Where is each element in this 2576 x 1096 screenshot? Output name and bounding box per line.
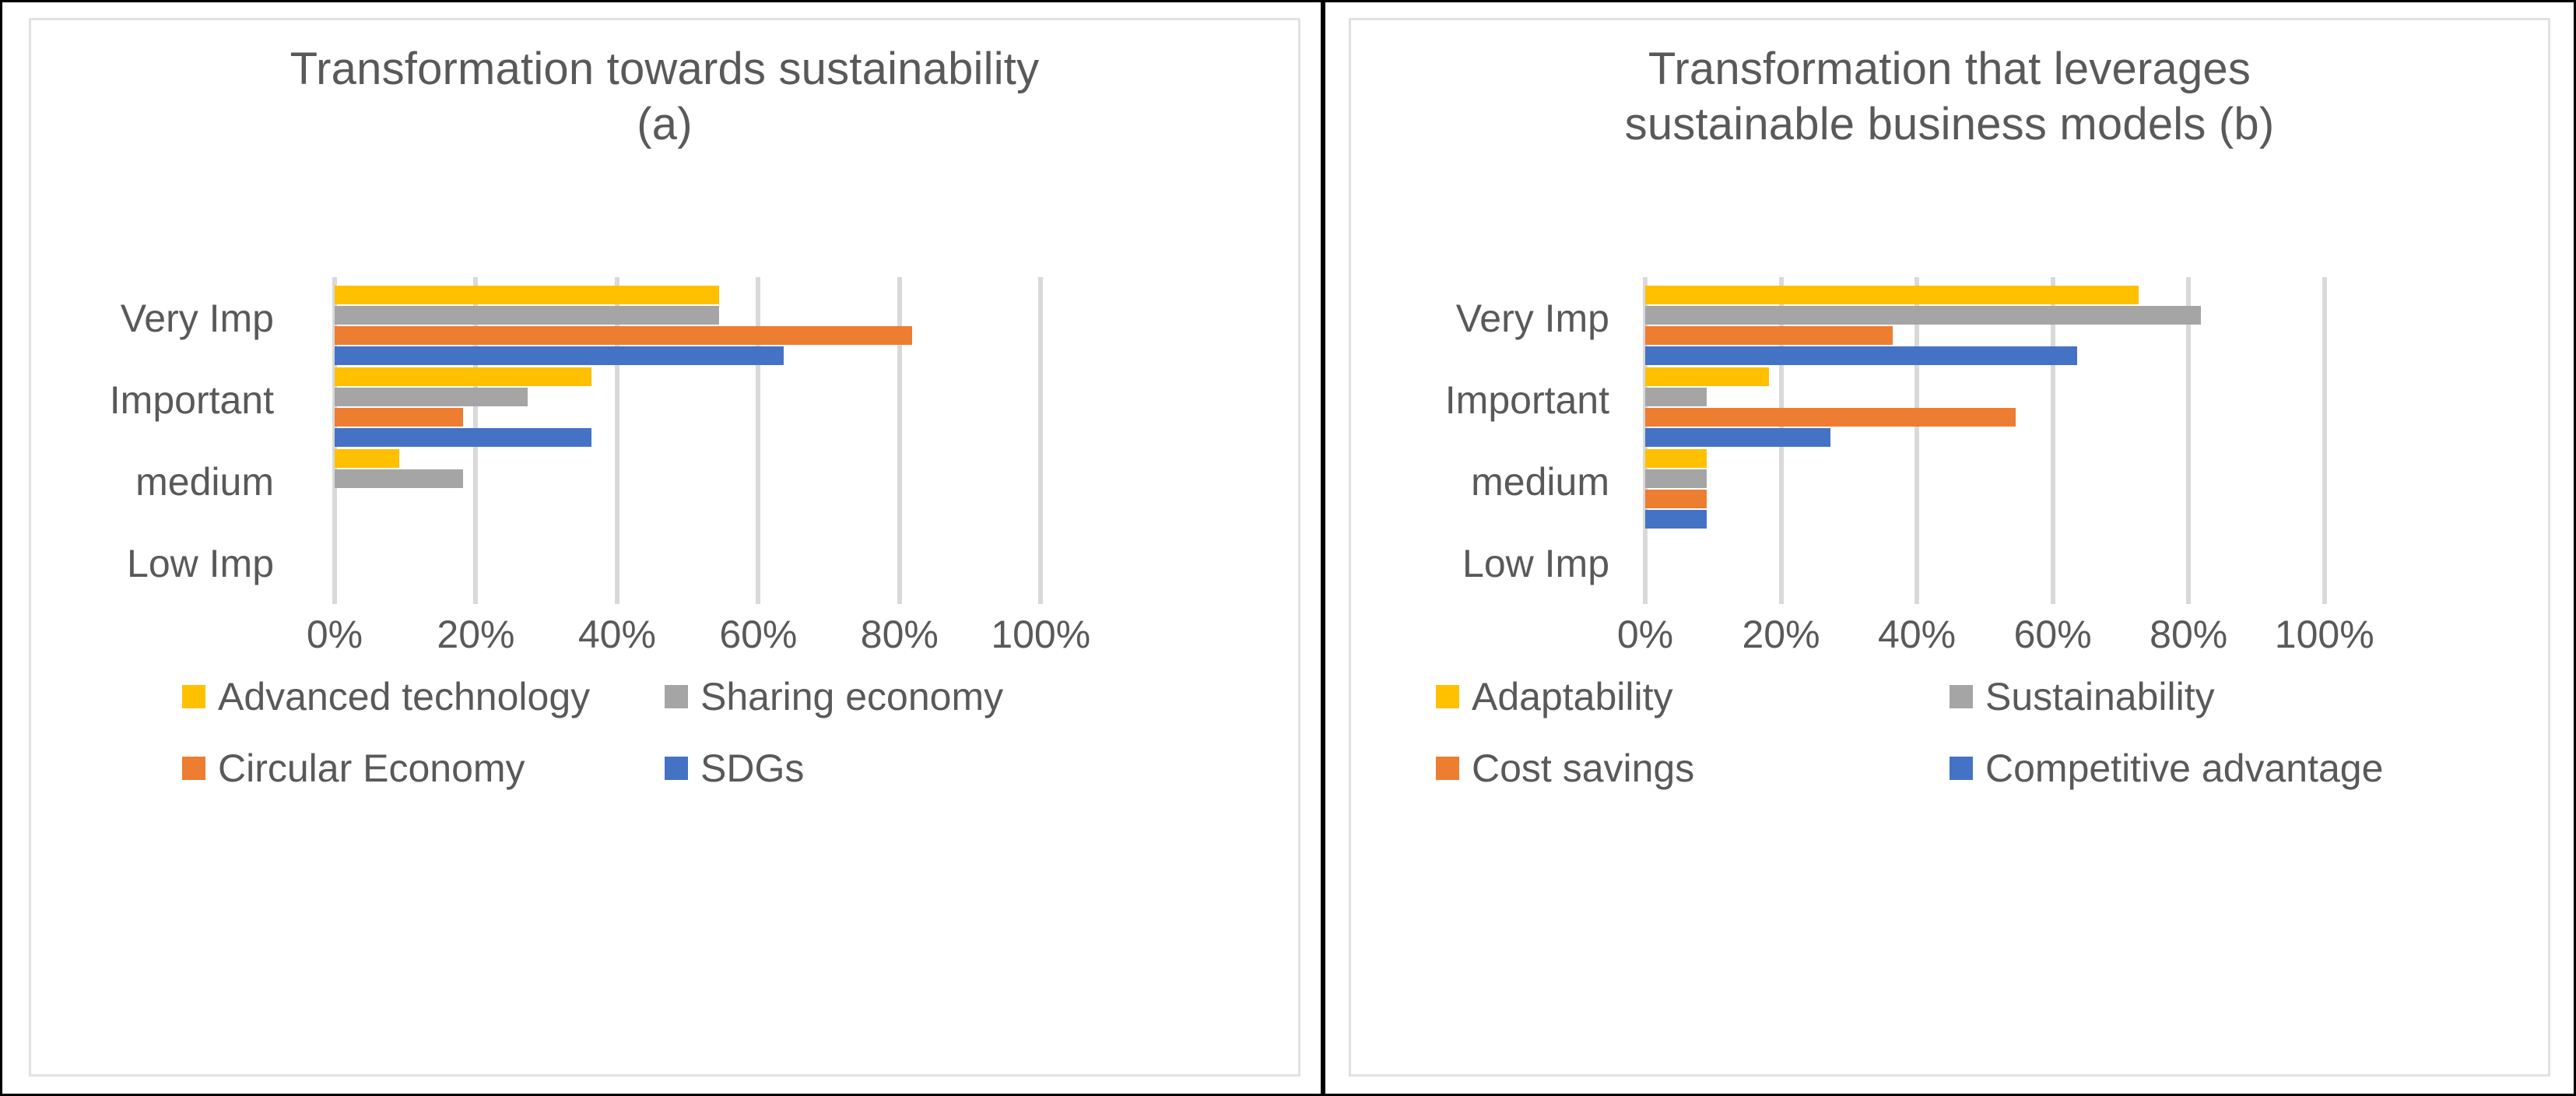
bar-adaptability <box>1645 286 2139 304</box>
legend-label: Cost savings <box>1472 746 1694 791</box>
category-label-very-imp: Very Imp <box>1456 296 1609 341</box>
legend-row: Cost savingsCompetitive advantage <box>1351 746 2548 791</box>
legend-swatch-icon <box>1436 685 1459 708</box>
bar-advanced-technology <box>335 286 719 304</box>
bar-sustainability <box>1645 388 1707 406</box>
chart-a-bars <box>335 277 1111 604</box>
legend-row: Circular EconomySDGs <box>31 746 1298 791</box>
x-axis-tick-100: 100% <box>2275 612 2374 657</box>
legend-swatch-icon <box>1436 757 1459 780</box>
legend-label: Competitive advantage <box>1985 746 2383 791</box>
legend-swatch-icon <box>1950 685 1973 708</box>
x-axis-tick-80: 80% <box>861 612 939 657</box>
chart-a-value-axis: 0%20%40%60%80%100% <box>335 612 1111 666</box>
legend-row: Advanced technologySharing economy <box>31 674 1298 719</box>
chart-a-title: Transformation towards sustainability (a… <box>31 42 1298 153</box>
bar-group-important <box>1645 359 2392 441</box>
figure-container: Transformation towards sustainability (a… <box>0 0 2576 1096</box>
legend-item-adaptability[interactable]: Adaptability <box>1436 674 1950 719</box>
bar-cost-savings <box>1645 490 1707 508</box>
legend-swatch-icon <box>665 685 688 708</box>
category-label-important: Important <box>1445 378 1609 423</box>
chart-panel-b: Transformation that leverages sustainabl… <box>1323 0 2576 1096</box>
chart-panel-a: Transformation towards sustainability (a… <box>0 0 1323 1096</box>
bar-sharing-economy <box>335 388 528 406</box>
bar-sharing-economy <box>335 469 463 488</box>
legend-item-advanced-technology[interactable]: Advanced technology <box>182 674 665 719</box>
legend-swatch-icon <box>1950 757 1973 780</box>
category-label-medium: medium <box>1471 459 1609 504</box>
legend-item-sustainability[interactable]: Sustainability <box>1950 674 2463 719</box>
x-axis-tick-60: 60% <box>2014 612 2092 657</box>
bar-group-low-imp <box>335 522 1111 604</box>
bar-advanced-technology <box>335 367 591 386</box>
chart-a-category-axis: Very ImpImportantmediumLow Imp <box>31 277 288 604</box>
legend-label: Sharing economy <box>700 674 1003 719</box>
bar-group-important <box>335 359 1111 441</box>
legend-swatch-icon <box>182 757 205 780</box>
legend-row: AdaptabilitySustainability <box>1351 674 2548 719</box>
chart-b-category-axis: Very ImpImportantmediumLow Imp <box>1351 277 1623 604</box>
category-label-low-imp: Low Imp <box>127 541 274 586</box>
x-axis-tick-80: 80% <box>2150 612 2227 657</box>
legend-label: Adaptability <box>1472 674 1673 719</box>
x-axis-tick-100: 100% <box>991 612 1090 657</box>
bar-cost-savings <box>1645 326 1893 345</box>
x-axis-tick-0: 0% <box>1617 612 1673 657</box>
legend-item-competitive-advantage[interactable]: Competitive advantage <box>1950 746 2463 791</box>
category-label-medium: medium <box>135 459 274 504</box>
chart-b-value-axis: 0%20%40%60%80%100% <box>1645 612 2392 666</box>
legend-item-cost-savings[interactable]: Cost savings <box>1436 746 1950 791</box>
category-label-low-imp: Low Imp <box>1462 541 1609 586</box>
x-axis-tick-20: 20% <box>437 612 514 657</box>
bar-adaptability <box>1645 449 1707 468</box>
bar-group-very-imp <box>1645 277 2392 359</box>
legend-item-sharing-economy[interactable]: Sharing economy <box>665 674 1147 719</box>
bar-sustainability <box>1645 306 2201 325</box>
chart-b-legend: AdaptabilitySustainabilityCost savingsCo… <box>1351 674 2548 817</box>
chart-a-plot-frame: Transformation towards sustainability (a… <box>29 18 1300 1077</box>
legend-item-sdgs[interactable]: SDGs <box>665 746 1147 791</box>
bar-sustainability <box>1645 469 1707 488</box>
category-label-important: Important <box>110 378 274 423</box>
chart-b-plot-frame: Transformation that leverages sustainabl… <box>1349 18 2550 1077</box>
chart-b-title-line2: sustainable business models (b) <box>1351 97 2548 153</box>
x-axis-tick-40: 40% <box>578 612 656 657</box>
bar-sharing-economy <box>335 306 719 325</box>
legend-swatch-icon <box>182 685 205 708</box>
bar-adaptability <box>1645 367 1769 386</box>
bar-group-very-imp <box>335 277 1111 359</box>
bar-advanced-technology <box>335 449 399 468</box>
bar-circular-economy <box>335 408 463 427</box>
chart-a-title-line2: (a) <box>31 97 1298 153</box>
bar-circular-economy <box>335 326 912 345</box>
chart-b-title: Transformation that leverages sustainabl… <box>1351 42 2548 153</box>
legend-label: Circular Economy <box>218 746 525 791</box>
bar-group-low-imp <box>1645 522 2392 604</box>
x-axis-tick-40: 40% <box>1878 612 1956 657</box>
legend-label: SDGs <box>700 746 804 791</box>
bar-group-medium <box>335 441 1111 522</box>
chart-b-title-line1: Transformation that leverages <box>1351 42 2548 97</box>
bar-cost-savings <box>1645 408 2016 427</box>
bar-group-medium <box>1645 441 2392 522</box>
legend-swatch-icon <box>665 757 688 780</box>
chart-a-title-line1: Transformation towards sustainability <box>31 42 1298 97</box>
legend-label: Sustainability <box>1985 674 2215 719</box>
x-axis-tick-0: 0% <box>307 612 363 657</box>
chart-b-bars <box>1645 277 2392 604</box>
x-axis-tick-60: 60% <box>719 612 797 657</box>
legend-item-circular-economy[interactable]: Circular Economy <box>182 746 665 791</box>
chart-a-legend: Advanced technologySharing economyCircul… <box>31 674 1298 817</box>
x-axis-tick-20: 20% <box>1742 612 1820 657</box>
chart-b-plot-area: Very ImpImportantmediumLow Imp 0%20%40%6… <box>1351 277 2548 604</box>
category-label-very-imp: Very Imp <box>121 296 274 341</box>
chart-a-plot-area: Very ImpImportantmediumLow Imp 0%20%40%6… <box>31 277 1298 604</box>
legend-label: Advanced technology <box>218 674 590 719</box>
